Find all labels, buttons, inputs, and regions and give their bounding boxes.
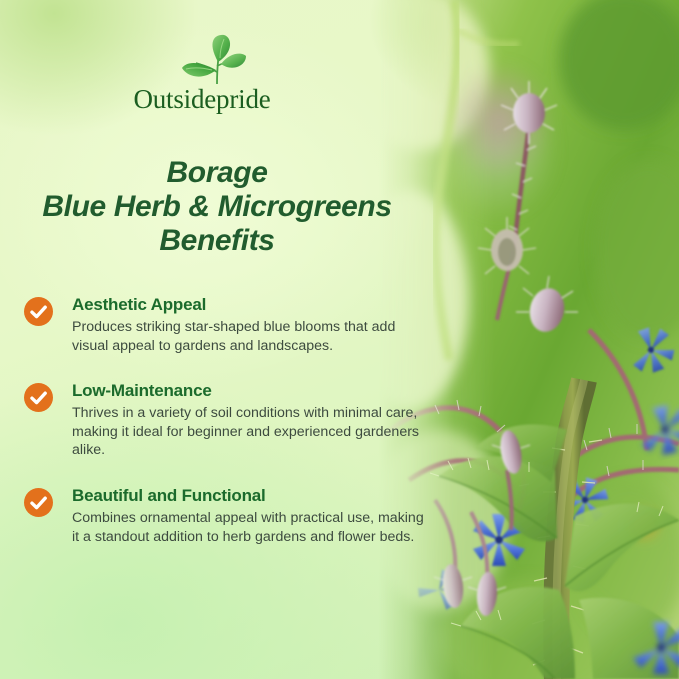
borage-plant-photo xyxy=(379,0,679,679)
title-line-3: Benefits xyxy=(0,224,434,258)
brand-logo: Outsidepride xyxy=(116,32,288,118)
benefit-heading: Aesthetic Appeal xyxy=(72,295,424,315)
benefit-body: Combines ornamental appeal with practica… xyxy=(72,509,424,546)
title-line-1: Borage xyxy=(0,156,434,190)
title-line-2: Blue Herb & Microgreens xyxy=(0,190,434,224)
benefit-item: Beautiful and Functional Combines orname… xyxy=(24,486,424,546)
benefit-item: Aesthetic Appeal Produces striking star-… xyxy=(24,295,424,355)
benefit-body: Thrives in a variety of soil conditions … xyxy=(72,404,424,460)
orange-check-circle-icon xyxy=(24,488,53,517)
benefit-heading: Beautiful and Functional xyxy=(72,486,424,506)
benefit-body: Produces striking star-shaped blue bloom… xyxy=(72,318,424,355)
orange-check-circle-icon xyxy=(24,297,53,326)
benefit-item: Low-Maintenance Thrives in a variety of … xyxy=(24,381,424,460)
orange-check-circle-icon xyxy=(24,383,53,412)
leaf-sprout-icon xyxy=(176,32,252,88)
benefit-heading: Low-Maintenance xyxy=(72,381,424,401)
page-title: Borage Blue Herb & Microgreens Benefits xyxy=(0,156,434,258)
infographic-page: Outsidepride Borage Blue Herb & Microgre… xyxy=(0,0,679,679)
brand-name: Outsidepride xyxy=(116,84,288,115)
benefits-list: Aesthetic Appeal Produces striking star-… xyxy=(24,295,424,546)
